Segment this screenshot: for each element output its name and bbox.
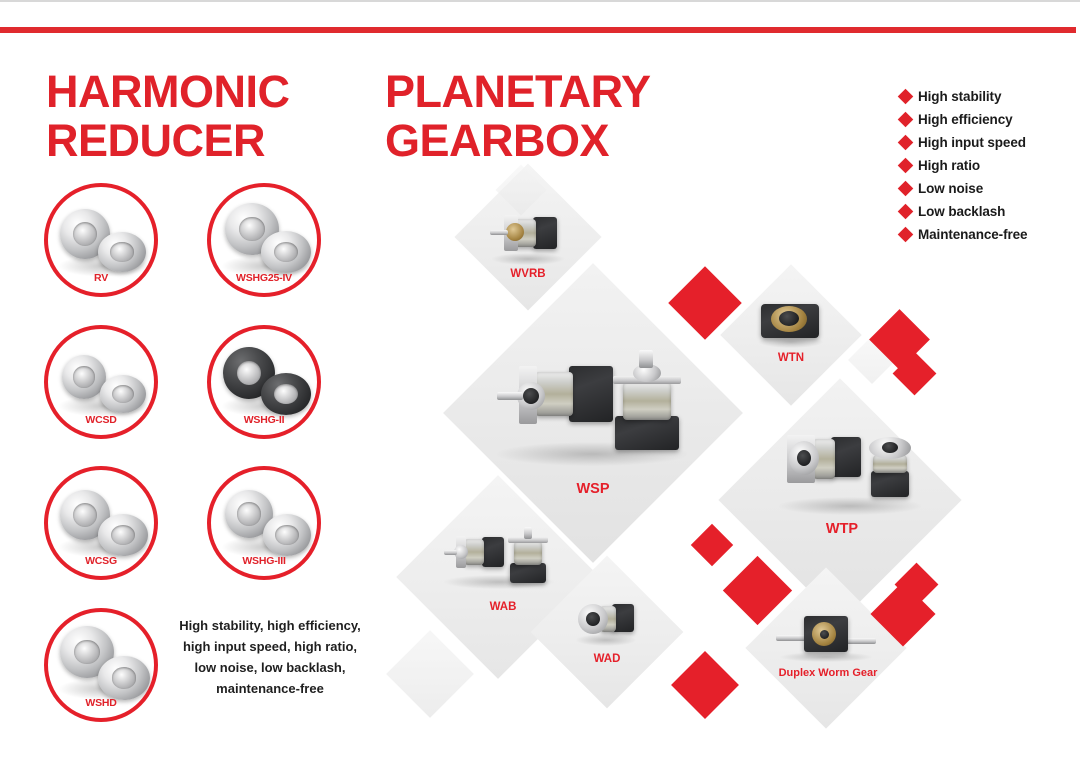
feature-list: High stability High efficiency High inpu… (900, 86, 1080, 247)
product-card-wcsg[interactable]: WCSG (44, 466, 158, 580)
diamond-bullet-icon (898, 180, 914, 196)
feature-label: High stability (918, 89, 1001, 104)
product-label: WSHG25-IV (207, 272, 321, 284)
planetary-title-line1: PLANETARY (385, 68, 715, 117)
product-image-wtp (779, 427, 921, 517)
harmonic-description-line: low noise, low backlash, (170, 657, 370, 678)
feature-label: Maintenance-free (918, 227, 1027, 242)
product-image-wab (444, 527, 554, 589)
red-diamond-accent (671, 651, 739, 719)
feature-label: High ratio (918, 158, 980, 173)
product-image-wvrb (488, 205, 568, 265)
product-label-wtn: WTN (741, 352, 841, 364)
harmonic-title-line2: REDUCER (46, 117, 376, 166)
planetary-title-line2: GEARBOX (385, 117, 715, 166)
diamond-bullet-icon (898, 203, 914, 219)
product-card-wshd[interactable]: WSHD (44, 608, 158, 722)
feature-label: Low noise (918, 181, 983, 196)
top-red-rule (0, 27, 1076, 33)
feature-label: High efficiency (918, 112, 1013, 127)
product-label-wtp: WTP (792, 521, 892, 537)
product-label: WCSD (44, 414, 158, 426)
feature-item-high-stability: High stability (900, 86, 1080, 106)
product-card-wcsd[interactable]: WCSD (44, 325, 158, 439)
feature-item-high-ratio: High ratio (900, 155, 1080, 175)
page-title-harmonic-reducer: HARMONIC REDUCER (46, 68, 376, 165)
diamond-bullet-icon (898, 157, 914, 173)
harmonic-title-line1: HARMONIC (46, 68, 376, 117)
product-label-wvrb: WVRB (478, 268, 578, 280)
top-hairline (0, 0, 1080, 2)
product-card-wshg25-iv[interactable]: WSHG25-IV (207, 183, 321, 297)
harmonic-description-line: High stability, high efficiency, (170, 615, 370, 636)
product-label: WSHG-III (207, 555, 321, 567)
product-label: RV (44, 272, 158, 284)
product-label-wad: WAD (557, 653, 657, 665)
product-card-wshg-iii[interactable]: WSHG-III (207, 466, 321, 580)
product-image-wad (574, 598, 640, 646)
feature-item-low-backlash: Low backlash (900, 201, 1080, 221)
product-label: WSHG-II (207, 414, 321, 426)
diamond-bullet-icon (898, 226, 914, 242)
product-image-wtn (757, 300, 827, 348)
harmonic-description-line: high input speed, high ratio, (170, 636, 370, 657)
product-label: WCSG (44, 555, 158, 567)
feature-item-high-input-speed: High input speed (900, 132, 1080, 152)
feature-label: High input speed (918, 135, 1026, 150)
product-label: WSHD (44, 697, 158, 709)
feature-label: Low backlash (918, 204, 1005, 219)
harmonic-description-line: maintenance-free (170, 678, 370, 699)
product-image-duplex-worm-gear (776, 612, 876, 662)
harmonic-description: High stability, high efficiency, high in… (170, 615, 370, 699)
product-label-wsp: WSP (543, 481, 643, 497)
product-label-duplex-worm-gear: Duplex Worm Gear (772, 667, 884, 679)
product-label-wab: WAB (453, 601, 553, 613)
page-title-planetary-gearbox: PLANETARY GEARBOX (385, 68, 715, 165)
catalog-page: HARMONIC REDUCER PLANETARY GEARBOX High … (0, 0, 1080, 769)
diamond-bullet-icon (898, 88, 914, 104)
feature-item-high-efficiency: High efficiency (900, 109, 1080, 129)
product-image-wsp (497, 350, 687, 470)
product-card-wshg-ii[interactable]: WSHG-II (207, 325, 321, 439)
feature-item-maintenance-free: Maintenance-free (900, 224, 1080, 244)
product-card-rv[interactable]: RV (44, 183, 158, 297)
diamond-tile-decorative (386, 630, 474, 718)
diamond-bullet-icon (898, 111, 914, 127)
diamond-bullet-icon (898, 134, 914, 150)
red-diamond-accent (691, 524, 733, 566)
feature-item-low-noise: Low noise (900, 178, 1080, 198)
